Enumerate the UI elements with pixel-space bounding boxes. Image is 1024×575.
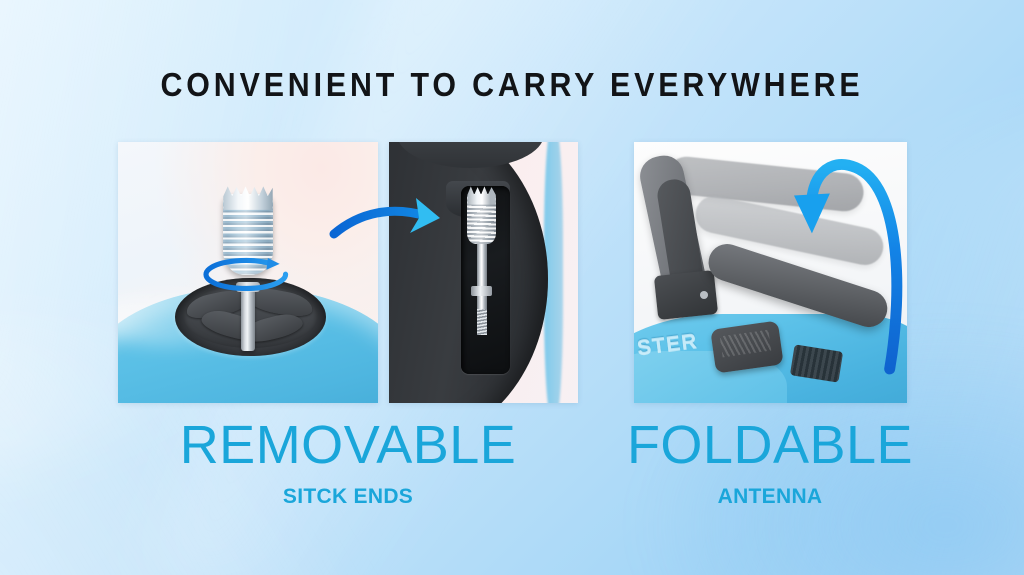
caption-foldable: FOLDABLE ANTENNA — [600, 418, 940, 509]
caption-removable: REMOVABLE SITCK ENDS — [118, 418, 578, 509]
promo-graphic: CONVENIENT TO CARRY EVERYWHERE — [0, 0, 1024, 575]
product-photo-stick-end-stored — [389, 142, 578, 403]
fold-arrow-icon — [792, 142, 907, 387]
caption-subtitle: SITCK ENDS — [118, 485, 578, 509]
page-title: CONVENIENT TO CARRY EVERYWHERE — [41, 66, 983, 104]
stick-end-shaft — [241, 288, 256, 351]
transfer-arrow-icon — [330, 186, 446, 248]
caption-title: FOLDABLE — [600, 418, 940, 472]
stick-end-shaft — [477, 236, 488, 314]
rotation-arrow-icon — [206, 258, 294, 292]
antenna-hinge — [654, 269, 718, 319]
product-photo-removable-attached — [118, 142, 378, 403]
caption-subtitle: ANTENNA — [600, 485, 940, 509]
stick-end-thread — [477, 309, 487, 335]
caption-title: REMOVABLE — [118, 418, 578, 472]
product-photo-foldable-antenna: STER — [634, 142, 907, 403]
stick-end-flange — [471, 286, 492, 296]
